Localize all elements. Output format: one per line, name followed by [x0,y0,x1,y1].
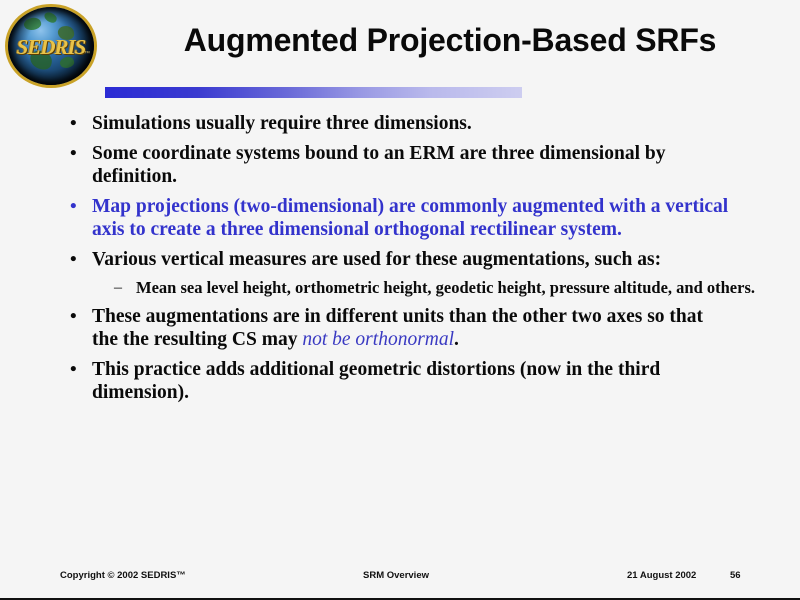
footer-copyright: Copyright © 2002 SEDRIS™ [60,570,186,581]
gradient-divider [105,87,522,98]
slide: SEDRIS ™ Augmented Projection-Based SRFs… [0,0,800,600]
bullet-list: • Simulations usually require three dime… [66,112,766,411]
list-item: • Map projections (two-dimensional) are … [66,195,740,241]
logo-trademark: ™ [84,51,90,57]
list-item-text: This practice adds additional geometric … [92,359,660,403]
slide-footer: Copyright © 2002 SEDRIS™ SRM Overview 21… [0,570,800,584]
list-item-text-tail: . [454,329,459,350]
bullet-marker: • [70,195,77,218]
sub-list-item-text: Mean sea level height, orthometric heigh… [136,278,755,297]
list-item-text: Simulations usually require three dimens… [92,113,472,134]
list-item: • Various vertical measures are used for… [66,248,752,271]
bullet-marker: • [70,248,77,271]
globe-icon: SEDRIS ™ [8,7,94,85]
footer-date: 21 August 2002 [627,570,696,581]
bullet-marker: • [70,112,77,135]
list-item: • This practice adds additional geometri… [66,358,732,404]
list-item: • Simulations usually require three dime… [66,112,752,135]
list-item-text: Map projections (two-dimensional) are co… [92,196,728,240]
list-item: • Some coordinate systems bound to an ER… [66,142,752,188]
page-title: Augmented Projection-Based SRFs [120,22,780,59]
emphasis-text: not be orthonormal [302,329,454,350]
dash-marker: – [114,278,122,298]
sedris-logo: SEDRIS ™ [8,7,96,85]
bullet-marker: • [70,142,77,165]
footer-deck-title: SRM Overview [363,570,429,581]
list-item: • These augmentations are in different u… [66,305,732,351]
logo-wordmark: SEDRIS [8,35,94,60]
bullet-marker: • [70,358,77,381]
footer-page-number: 56 [730,570,741,581]
list-item-text: Some coordinate systems bound to an ERM … [92,143,665,187]
sub-list-item: – Mean sea level height, orthometric hei… [114,278,766,298]
list-item-text: Various vertical measures are used for t… [92,249,661,270]
bullet-marker: • [70,305,77,328]
